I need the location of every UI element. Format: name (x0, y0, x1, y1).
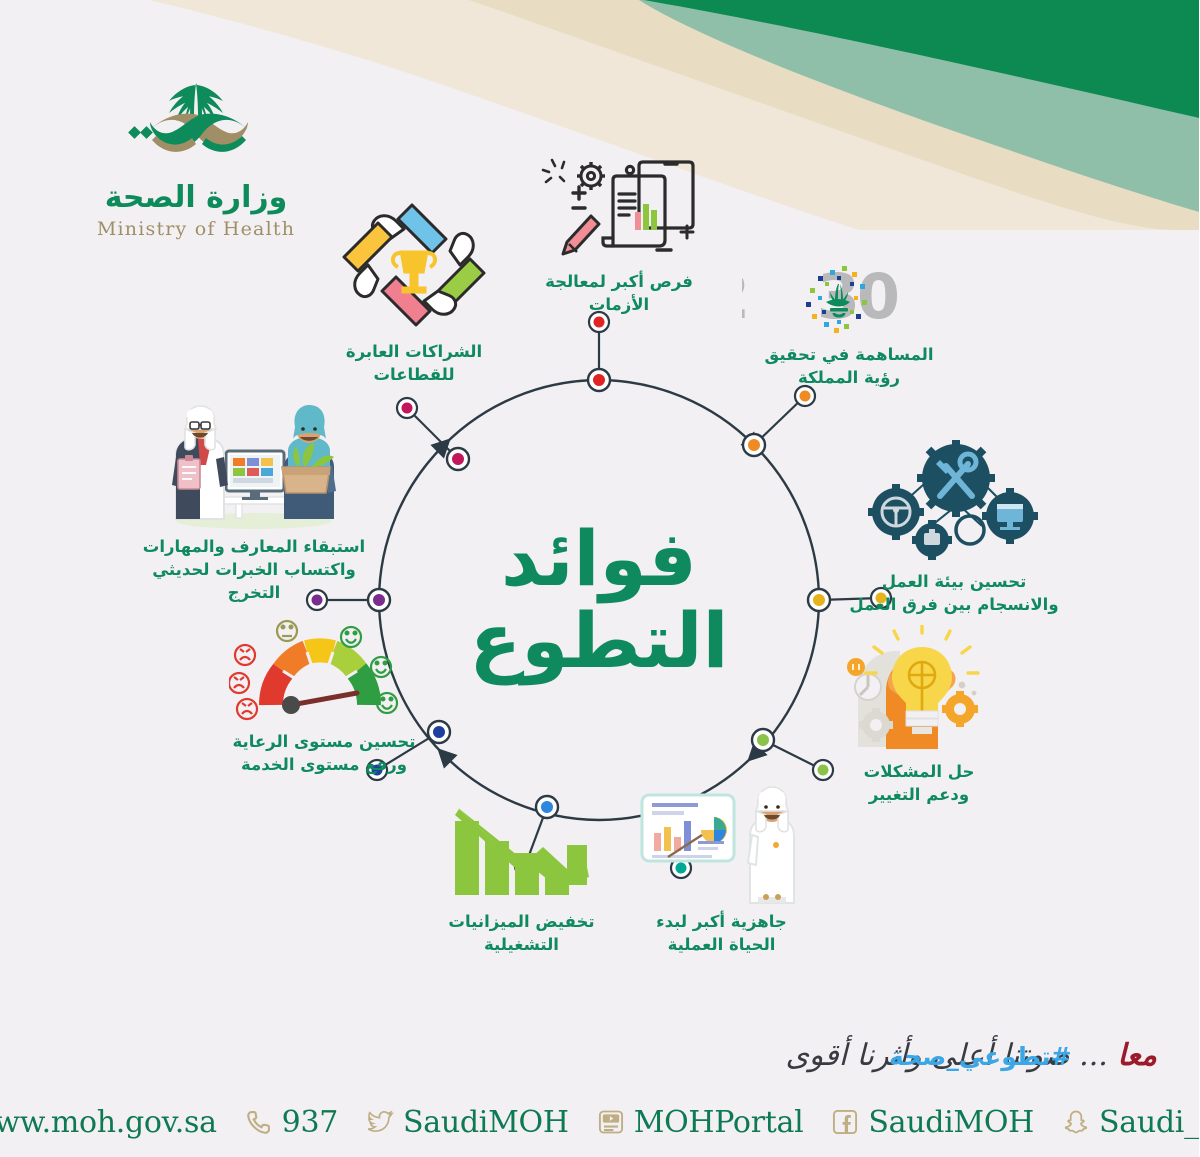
gears-tools-icon (835, 440, 1075, 565)
satisfaction-gauge-icon (210, 615, 440, 725)
benefit-item-vision2030[interactable]: 2 3 0 (720, 258, 980, 390)
tagline-accent: معا (1118, 1038, 1158, 1073)
benefit-caption: الشراكات العابرة للقطاعات (315, 341, 515, 387)
declining-bar-chart-arrow-icon (415, 795, 630, 905)
presenter-chartboard-icon (615, 785, 830, 905)
ministry-of-health-logo: وزارة الصحة Ministry of Health (72, 68, 322, 253)
benefit-item-crisis[interactable]: فرص أكبر لمعالجة الأزمات (505, 150, 735, 317)
contact-facebook[interactable]: SaudiMOH (818, 1105, 1049, 1140)
benefit-item-work-environment[interactable]: تحسين بيئة العمل والانسجام بين فرق العمل (835, 440, 1075, 617)
svg-text:0: 0 (857, 260, 900, 333)
youtube-icon (598, 1108, 626, 1136)
twitter-icon (367, 1108, 395, 1136)
benefit-caption: فرص أكبر لمعالجة الأزمات (505, 271, 735, 317)
contact-label: Saudi_Moh (1100, 1105, 1200, 1140)
benefit-caption: تحسين بيئة العمل والانسجام بين فرق العمل (835, 571, 1075, 617)
benefit-item-care-level[interactable]: تحسين مستوى الرعاية ورفع مستوى الخدمة (210, 615, 440, 777)
infographic-canvas: وزارة الصحة Ministry of Health (0, 0, 1200, 1157)
facebook-icon (832, 1108, 860, 1136)
benefit-item-knowledge-retention[interactable]: استبقاء المعارف والمهارات واكتساب الخبرا… (125, 405, 385, 604)
contact-snapchat[interactable]: Saudi_Moh (1049, 1105, 1200, 1140)
palm-tree-swords-icon (107, 68, 287, 178)
contact-website[interactable]: www.moh.gov.sa (0, 1105, 232, 1140)
logo-english-text: Ministry of Health (72, 218, 322, 240)
benefit-item-problem-solving[interactable]: حل المشكلات ودعم التغيير (805, 625, 1035, 807)
contact-label: 937 (283, 1105, 339, 1140)
contact-label: SaudiMOH (869, 1105, 1035, 1140)
benefit-caption: المساهمة في تحقيق رؤية المملكة (720, 344, 980, 390)
snapchat-icon (1063, 1108, 1091, 1136)
contact-youtube[interactable]: MOHPortal (584, 1105, 819, 1140)
two-employees-monitor-icon (125, 405, 385, 530)
contact-twitter[interactable]: SaudiMOH (353, 1105, 584, 1140)
benefit-caption: جاهزية أكبر لبدء الحياة العملية (615, 911, 830, 957)
benefit-item-partnerships[interactable]: الشراكات العابرة للقطاعات (315, 195, 515, 387)
benefit-caption: تحسين مستوى الرعاية ورفع مستوى الخدمة (210, 731, 440, 777)
phone-icon (246, 1108, 274, 1136)
benefit-caption: تخفيض الميزانيات التشغيلية (415, 911, 630, 957)
benefit-caption: حل المشكلات ودعم التغيير (805, 761, 1035, 807)
contact-phone[interactable]: 937 (232, 1105, 353, 1140)
benefit-item-budget-reduction[interactable]: تخفيض الميزانيات التشغيلية (415, 795, 630, 957)
logo-arabic-text: وزارة الصحة (72, 180, 322, 215)
vision-2030-logo: 2 3 0 (720, 258, 980, 338)
contact-label: MOHPortal (635, 1105, 805, 1140)
benefit-item-career-readiness[interactable]: جاهزية أكبر لبدء الحياة العملية (615, 785, 830, 957)
benefit-caption: استبقاء المعارف والمهارات واكتساب الخبرا… (125, 536, 385, 604)
head-lightbulb-gears-icon (805, 625, 1035, 755)
contact-label: www.moh.gov.sa (0, 1105, 218, 1140)
contact-bar: www.moh.gov.sa 937 SaudiMOH M (0, 1098, 1200, 1146)
campaign-hashtag[interactable]: #تطوعي_صحة (890, 1042, 1073, 1071)
four-hands-trophy-icon (315, 195, 515, 335)
contact-label: SaudiMOH (404, 1105, 570, 1140)
documents-chart-pencil-gear-icon (505, 150, 735, 265)
svg-text:2: 2 (743, 260, 751, 333)
